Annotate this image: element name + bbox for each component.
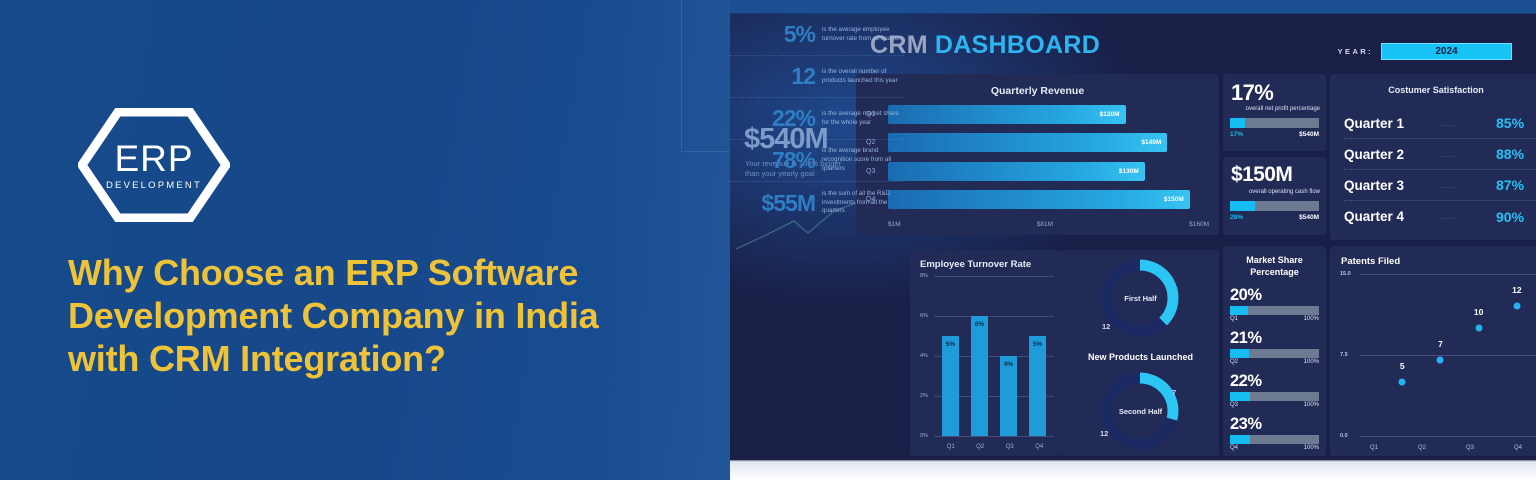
axis-tick-label: 15.0 <box>1340 271 1351 277</box>
gridline <box>1360 355 1536 356</box>
market-share-value: 20% <box>1230 286 1319 305</box>
axis-tick-label: Q3 <box>1006 444 1014 450</box>
bar-value-label: $120M <box>1100 111 1120 118</box>
stat-number: 78% <box>730 147 822 174</box>
table-row: Q1 $120M <box>866 105 1209 124</box>
bar-value-label: $130M <box>1119 168 1139 175</box>
axis-tick-label: $160M <box>1189 221 1209 228</box>
bar-value-label: 5% <box>1033 341 1042 348</box>
bar-fill: $120M <box>888 105 1126 124</box>
employee-turnover-xaxis: Q1Q2Q3Q4 <box>936 444 1054 450</box>
bar-value-label: 6% <box>975 321 984 328</box>
list-item: 5% is the average employee turnover rate… <box>730 14 904 56</box>
table-row: Quarter 3 ...... 87% <box>1344 170 1536 201</box>
leader-dots: ...... <box>1436 181 1496 190</box>
year-label: YEAR: <box>1338 47 1373 56</box>
employee-turnover-plot: 8% 6% 4% 2% 0% 5% 6% 4% 5% <box>920 276 1054 436</box>
quarter-label: Q3 <box>1230 402 1238 408</box>
leader-dots: ...... <box>1436 119 1496 128</box>
scatter-point <box>1399 379 1406 386</box>
cash-flow-caption: overall operating cash flow <box>1249 189 1320 195</box>
net-profit-progress-track <box>1230 118 1319 128</box>
list-item: 12 is the overall number of products lau… <box>730 56 904 98</box>
quarter-label: Quarter 2 <box>1344 147 1436 162</box>
list-item: 23% Q4 100% <box>1230 415 1319 451</box>
market-share-card: Market Share Percentage 20% Q1 100% 21% … <box>1223 246 1326 456</box>
banner: ERP DEVELOPMENT Why Choose an ERP Softwa… <box>0 0 1536 480</box>
progress-fill <box>1230 349 1249 358</box>
quarter-label: Quarter 3 <box>1344 178 1436 193</box>
cash-flow-pct: 28% <box>1230 214 1243 221</box>
progress-fill <box>1230 306 1248 315</box>
table-row: Q2 $140M <box>866 133 1209 152</box>
logo: ERP DEVELOPMENT <box>78 108 230 222</box>
donut-second-half-value-2: 12 <box>1100 429 1108 438</box>
axis-tick-label: $81M <box>1037 221 1053 228</box>
stat-description: is the sum of all the R&D investments fr… <box>822 190 904 217</box>
employee-turnover-bars: 5% 6% 4% 5% <box>936 276 1052 436</box>
cash-flow-footer: 28% $540M <box>1230 214 1319 221</box>
stat-description: is the average employee turnover rate fr… <box>822 26 904 44</box>
axis-tick-label: Q1 <box>1370 445 1378 451</box>
page-title: Why Choose an ERP Software Development C… <box>68 252 668 380</box>
satisfaction-value: 85% <box>1496 115 1536 131</box>
max-label: 100% <box>1304 316 1319 322</box>
max-label: 100% <box>1304 402 1319 408</box>
dashboard-title: CRMDASHBOARD <box>870 31 1100 60</box>
net-profit-caption: overall net profit percentage <box>1246 106 1320 112</box>
cash-flow-progress-track <box>1230 201 1319 211</box>
dashboard-title-dashboard: DASHBOARD <box>935 31 1100 59</box>
scatter-point-label: 12 <box>1512 285 1521 295</box>
patents-filed-card: Patents Filed 15.0 7.5 0.0 5 7 10 12 Q1Q… <box>1330 246 1536 456</box>
gridline <box>1360 274 1536 275</box>
satisfaction-value: 88% <box>1496 146 1536 162</box>
quarter-label: Quarter 4 <box>1344 209 1436 224</box>
stat-number: 22% <box>730 105 822 132</box>
stat-number: 12 <box>730 63 822 90</box>
net-profit-progress-fill <box>1230 118 1245 128</box>
bar: 5% <box>1029 336 1046 436</box>
axis-tick-label: Q4 <box>1514 445 1522 451</box>
axis-tick-label: Q1 <box>947 444 955 450</box>
customer-satisfaction-title: Costumer Satisfaction <box>1330 85 1536 95</box>
quarter-label: Quarter 1 <box>1344 116 1436 131</box>
list-item: 21% Q2 100% <box>1230 329 1319 365</box>
satisfaction-value: 90% <box>1496 209 1536 225</box>
bar-fill: $130M <box>888 162 1145 181</box>
donut-second-half-value: 7 <box>1172 388 1176 397</box>
cash-flow-value: $150M <box>1231 163 1292 187</box>
patents-filed-xaxis: Q1Q2Q3Q4 <box>1350 445 1536 451</box>
donut-first-half: First Half 12 <box>1062 250 1219 348</box>
dashboard-canvas: CRMDASHBOARD YEAR: 2024 $540M Your reven… <box>730 14 1536 460</box>
quarter-label: Q1 <box>1230 316 1238 322</box>
table-row: Quarter 2 ...... 88% <box>1344 139 1536 170</box>
customer-satisfaction-list: Quarter 1 ...... 85% Quarter 2 ...... 88… <box>1344 108 1536 232</box>
stat-description: is the average market share for the whol… <box>822 110 904 128</box>
progress-footer: Q2 100% <box>1230 359 1319 365</box>
axis-tick-label: 6% <box>920 313 928 319</box>
progress-track <box>1230 392 1319 401</box>
market-share-title: Market Share Percentage <box>1223 254 1326 278</box>
brand-pane: ERP DEVELOPMENT Why Choose an ERP Softwa… <box>0 0 735 480</box>
donut-second-half-label: Second Half <box>1062 407 1219 416</box>
bar-track: $150M <box>888 190 1209 209</box>
bar-fill: $140M <box>888 133 1167 152</box>
net-profit-total: $540M <box>1299 131 1319 138</box>
list-item: 22% is the average market share for the … <box>730 98 904 140</box>
quarter-label: Q4 <box>1230 445 1238 451</box>
gridline <box>934 436 1054 437</box>
leader-dots: ...... <box>1436 212 1496 221</box>
bar-value-label: 4% <box>1004 361 1013 368</box>
table-row: Quarter 4 ...... 90% <box>1344 201 1536 232</box>
new-products-title: New Products Launched <box>1062 348 1219 366</box>
employee-turnover-title: Employee Turnover Rate <box>920 259 1031 270</box>
cash-flow-total: $540M <box>1299 214 1319 221</box>
list-item: 22% Q3 100% <box>1230 372 1319 408</box>
list-item: 20% Q1 100% <box>1230 286 1319 322</box>
patents-filed-plot: 15.0 7.5 0.0 5 7 10 12 <box>1340 274 1536 436</box>
progress-footer: Q1 100% <box>1230 316 1319 322</box>
list-item: $55M is the sum of all the R&D investmen… <box>730 182 904 224</box>
stat-description: is the average brand recognition score f… <box>822 147 904 174</box>
list-item: 78% is the average brand recognition sco… <box>730 140 904 182</box>
gridline <box>1360 436 1536 437</box>
scatter-point <box>1475 325 1482 332</box>
progress-footer: Q4 100% <box>1230 445 1319 451</box>
donut-first-half-value: 12 <box>1102 322 1110 331</box>
net-profit-footer: 17% $540M <box>1230 131 1319 138</box>
max-label: 100% <box>1304 445 1319 451</box>
bar-track: $130M <box>888 162 1209 181</box>
cash-flow-card: $150M overall operating cash flow 28% $5… <box>1223 157 1326 235</box>
axis-tick-label: 0.0 <box>1340 433 1348 439</box>
net-profit-value: 17% <box>1231 80 1273 106</box>
scatter-point-label: 10 <box>1474 307 1483 317</box>
axis-tick-label: Q4 <box>1035 444 1043 450</box>
axis-tick-label: 7.5 <box>1340 352 1348 358</box>
bar-value-label: 5% <box>946 341 955 348</box>
donut-second-half: Second Half 7 12 <box>1062 366 1219 456</box>
market-share-value: 22% <box>1230 372 1319 391</box>
max-label: 100% <box>1304 359 1319 365</box>
axis-tick-label: 4% <box>920 353 928 359</box>
axis-tick-label: 8% <box>920 273 928 279</box>
scatter-point-label: 5 <box>1400 361 1405 371</box>
net-profit-card: 17% overall net profit percentage 17% $5… <box>1223 74 1326 151</box>
bar: 4% <box>1000 356 1017 436</box>
quarter-label: Q2 <box>1230 359 1238 365</box>
progress-fill <box>1230 392 1250 401</box>
customer-satisfaction-card: Costumer Satisfaction Quarter 1 ...... 8… <box>1330 74 1536 240</box>
hexagon-icon <box>78 108 230 222</box>
net-profit-pct: 17% <box>1230 131 1243 138</box>
table-row: Q4 $150M <box>866 190 1209 209</box>
bar-value-label: $140M <box>1141 139 1161 146</box>
progress-footer: Q3 100% <box>1230 402 1319 408</box>
dashboard-image: CRMDASHBOARD YEAR: 2024 $540M Your reven… <box>730 0 1536 480</box>
market-share-value: 23% <box>1230 415 1319 434</box>
axis-tick-label: 0% <box>920 433 928 439</box>
progress-fill <box>1230 435 1250 444</box>
axis-tick-label: 2% <box>920 393 928 399</box>
market-share-value: 21% <box>1230 329 1319 348</box>
bar-track: $140M <box>888 133 1209 152</box>
bar-fill: $150M <box>888 190 1190 209</box>
axis-tick-label: Q2 <box>1418 445 1426 451</box>
leader-dots: ...... <box>1436 150 1496 159</box>
scatter-point <box>1513 303 1520 310</box>
year-selector[interactable]: YEAR: 2024 <box>1338 43 1512 60</box>
stat-description: is the overall number of products launch… <box>822 68 904 86</box>
quarterly-revenue-bars: Q1 $120M Q2 $140M Q3 $130M Q4 $150M <box>866 105 1209 209</box>
progress-track <box>1230 306 1319 315</box>
employee-turnover-card: Employee Turnover Rate 8% 6% 4% 2% 0% 5%… <box>910 250 1062 456</box>
axis-tick-label: Q2 <box>976 444 984 450</box>
bar-track: $120M <box>888 105 1209 124</box>
quarterly-revenue-axis: $1M$81M$160M <box>888 221 1209 228</box>
cash-flow-progress-fill <box>1230 201 1255 211</box>
bar: 6% <box>971 316 988 436</box>
axis-tick-label: Q3 <box>1466 445 1474 451</box>
summary-stats-list: 5% is the average employee turnover rate… <box>730 14 904 224</box>
new-products-card: First Half 12 New Products Launched Seco… <box>1062 250 1219 456</box>
progress-track <box>1230 349 1319 358</box>
table-row: Quarter 1 ...... 85% <box>1344 108 1536 139</box>
scatter-point <box>1437 357 1444 364</box>
patents-filed-title: Patents Filed <box>1341 256 1400 267</box>
progress-track <box>1230 435 1319 444</box>
stat-number: 5% <box>730 21 822 48</box>
donut-first-half-label: First Half <box>1062 294 1219 303</box>
quarterly-revenue-card: Quarterly Revenue Q1 $120M Q2 $140M Q3 $… <box>856 74 1219 235</box>
satisfaction-value: 87% <box>1496 177 1536 193</box>
stat-number: $55M <box>730 190 822 217</box>
market-share-list: 20% Q1 100% 21% Q2 100% 22% Q3 100% 23% <box>1230 286 1319 458</box>
bar: 5% <box>942 336 959 436</box>
scatter-point-label: 7 <box>1438 339 1443 349</box>
quarterly-revenue-title: Quarterly Revenue <box>856 85 1219 97</box>
year-value[interactable]: 2024 <box>1381 43 1512 60</box>
table-row: Q3 $130M <box>866 162 1209 181</box>
bar-value-label: $150M <box>1164 196 1184 203</box>
